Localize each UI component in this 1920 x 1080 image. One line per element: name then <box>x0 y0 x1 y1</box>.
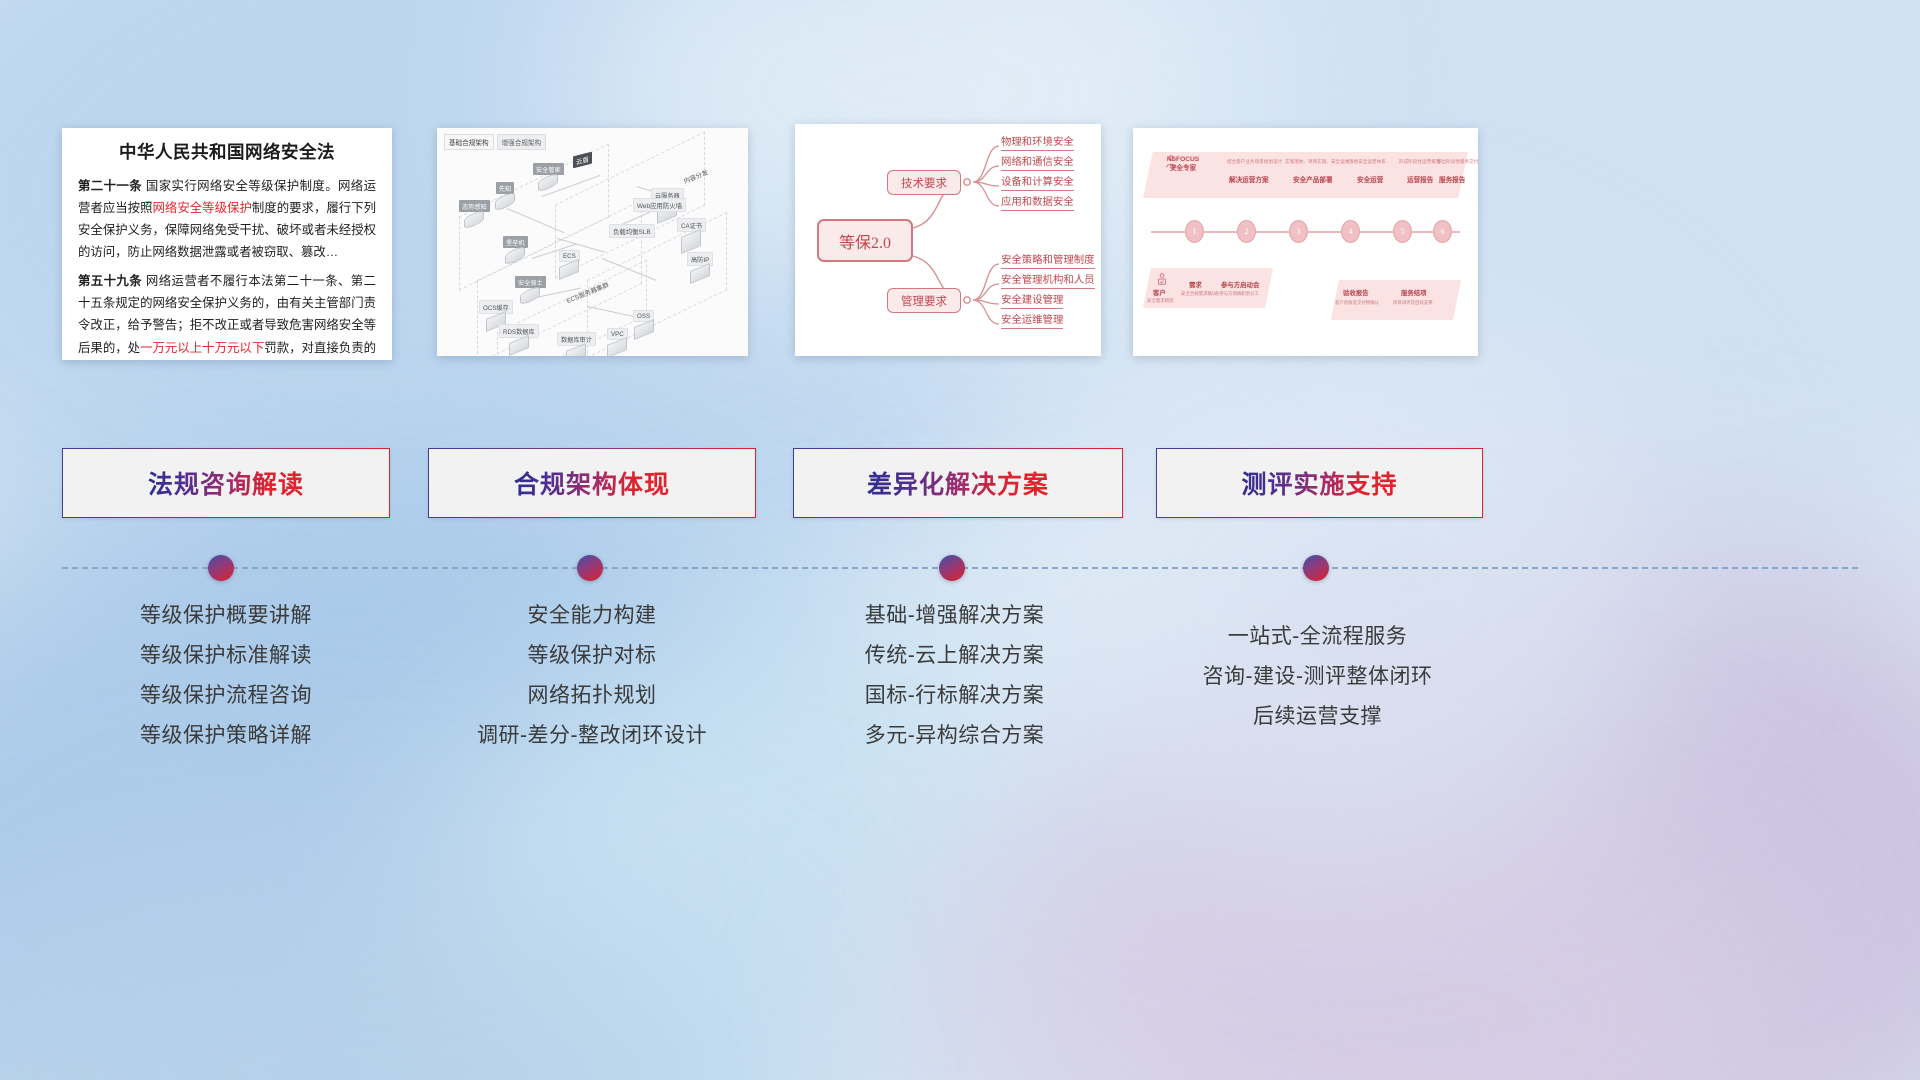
list-item: 网络拓扑规划 <box>427 685 757 706</box>
column-differentiated-solution: 基础-增强解决方案 传统-云上解决方案 国标-行标解决方案 多元-异构综合方案 <box>787 605 1122 765</box>
article-21-highlight: 网络安全等级保护 <box>153 201 252 215</box>
banner-compliance-architecture[interactable]: 合规架构体现 <box>428 448 756 518</box>
mindmap-leaf-org-personnel: 安全管理机构和人员 <box>1001 274 1095 289</box>
list-item: 等级保护概要讲解 <box>61 605 391 626</box>
list-item: 等级保护对标 <box>427 645 757 666</box>
arch-node-situational-awareness: 态势感知 <box>459 200 490 226</box>
timeline-step-2: 2 <box>1237 220 1256 243</box>
card-assessment-timeline[interactable]: NSFOCUS 安全专家 结合客户业务场景规划设计 解决运营方案 实施落地、项目… <box>1133 128 1478 356</box>
mindmap-leaf-ops-mgmt: 安全运维管理 <box>1001 314 1063 329</box>
card-mindmap-dengbao[interactable]: 等保2.0 技术要求 管理要求 物理和环境安全 网络和通信安全 设备和计算安全 … <box>795 124 1101 356</box>
mindmap-leaf-construction-mgmt: 安全建设管理 <box>1001 294 1063 309</box>
article-21-label: 第二十一条 <box>78 179 142 193</box>
tab-enhanced-architecture[interactable]: 增强合规架构 <box>497 134 547 150</box>
banner-assessment-support[interactable]: 测评实施支持 <box>1156 448 1483 518</box>
list-item: 咨询-建设-测评整体闭环 <box>1150 666 1485 687</box>
band-title-2: 安全产品部署 <box>1293 174 1333 184</box>
mindmap-diagram: 等保2.0 技术要求 管理要求 物理和环境安全 网络和通信安全 设备和计算安全 … <box>795 124 1101 356</box>
architecture-tabs[interactable]: 基础合规架构 增强合规架构 <box>444 134 546 150</box>
mindmap-leaf-network-comm: 网络和通信安全 <box>1001 156 1074 171</box>
tab-basic-architecture[interactable]: 基础合规架构 <box>444 134 494 150</box>
band-title-5: 服务报告 <box>1439 174 1465 184</box>
arch-node-xianzhi: 先知 <box>495 182 515 208</box>
arch-node-security-knight: 安全骑士 <box>515 276 546 302</box>
list-item: 等级保护标准解读 <box>61 645 391 666</box>
list-item: 调研-差分-整改闭环设计 <box>427 725 757 746</box>
timeline-brand: NSFOCUS 安全专家 <box>1155 156 1211 174</box>
timeline-step-4: 4 <box>1341 220 1360 243</box>
law-document: 中华人民共和国网络安全法 第二十一条 国家实行网络安全等级保护制度。网络运营者应… <box>62 128 392 360</box>
list-item: 国标-行标解决方案 <box>787 685 1122 706</box>
footer-title-kickoff: 参与方启动会 <box>1221 280 1259 289</box>
rail-dot-1 <box>208 555 234 581</box>
footer-sub-closure: 项目闭环及后续支撑 <box>1393 300 1433 306</box>
banner-label-2: 合规架构体现 <box>514 465 670 501</box>
law-article-59: 第五十九条 网络运营者不履行本法第二十一条、第二十五条规定的网络安全保护义务的，… <box>78 270 376 360</box>
timeline-diagram: NSFOCUS 安全专家 结合客户业务场景规划设计 解决运营方案 实施落地、项目… <box>1133 128 1478 356</box>
arch-node-ca-certificate: CA证书 <box>677 218 706 250</box>
rail-dot-4 <box>1303 555 1329 581</box>
band-sub-4: 形成阶段性运营报告 <box>1399 159 1440 165</box>
footer-title-acceptance: 验收报告 <box>1343 288 1369 297</box>
mindmap-branch-technical: 技术要求 <box>887 170 961 195</box>
list-item: 多元-异构综合方案 <box>787 725 1122 746</box>
arch-node-database-audit: 数据库审计 <box>557 332 596 356</box>
band-title-4: 运营报告 <box>1407 174 1433 184</box>
column-regulation-consulting: 等级保护概要讲解 等级保护标准解读 等级保护流程咨询 等级保护策略详解 <box>61 605 391 765</box>
band-title-1: 解决运营方案 <box>1229 174 1269 184</box>
timeline-step-1: 1 <box>1185 220 1204 243</box>
list-item: 等级保护策略详解 <box>61 725 391 746</box>
list-item: 安全能力构建 <box>427 605 757 626</box>
footer-title-customer: 客户 <box>1153 288 1166 297</box>
arch-node-anti-ddos-ip: 高防IP <box>687 252 713 280</box>
footer-title-requirement: 需求 <box>1189 280 1202 289</box>
list-item: 一站式-全流程服务 <box>1150 626 1485 647</box>
list-item: 基础-增强解决方案 <box>787 605 1122 626</box>
mindmap-leaf-device-compute: 设备和计算安全 <box>1001 176 1074 191</box>
banner-differentiated-solution[interactable]: 差异化解决方案 <box>793 448 1123 518</box>
footer-sub-customer: 安全需求梳理 <box>1147 298 1173 304</box>
rail-dot-2 <box>577 555 603 581</box>
arch-node-security-butler: 安全管家 <box>533 163 564 189</box>
article-59-highlight-1: 一万元以上十万元以下 <box>140 341 264 355</box>
band-sub-5: 输出阶段性服务交付结果报告 <box>1437 159 1478 165</box>
list-item: 等级保护流程咨询 <box>61 685 391 706</box>
column-assessment-support: 一站式-全流程服务 咨询-建设-测评整体闭环 后续运营支撑 <box>1150 626 1485 746</box>
banner-label-3: 差异化解决方案 <box>867 465 1049 501</box>
list-item: 后续运营支撑 <box>1150 706 1485 727</box>
band-sub-1: 结合客户业务场景规划设计 <box>1227 159 1282 165</box>
mindmap-leaf-app-data: 应用和数据安全 <box>1001 196 1074 211</box>
law-article-21: 第二十一条 国家实行网络安全等级保护制度。网络运营者应当按照网络安全等级保护制度… <box>78 175 376 263</box>
banner-label-1: 法规咨询解读 <box>148 465 304 501</box>
timeline-step-5: 5 <box>1393 220 1412 243</box>
architecture-diagram: 基础合规架构 增强合规架构 云盾 态势感知 <box>437 128 748 356</box>
timeline-step-3: 3 <box>1289 220 1308 243</box>
footer-sub-acceptance: 客户验收及交付物确认 <box>1335 300 1379 306</box>
person-check-icon <box>1155 272 1169 286</box>
footer-title-closure: 服务结项 <box>1401 288 1427 297</box>
article-59-label: 第五十九条 <box>78 274 142 288</box>
footer-sub-requirement: 安全合规需求确认 <box>1181 291 1216 297</box>
arch-node-bastion-host: 堡垒机 <box>503 236 528 262</box>
arch-node-web-app-firewall: Web应用防火墙 <box>633 198 686 212</box>
rail-dot-3 <box>939 555 965 581</box>
band-title-3: 安全运营 <box>1357 174 1383 184</box>
footer-sub-kickoff: 各参与方明确职责分工 <box>1215 291 1259 297</box>
mindmap-leaf-physical-env: 物理和环境安全 <box>1001 136 1074 151</box>
banner-label-4: 测评实施支持 <box>1241 465 1397 501</box>
arch-node-oss: OSS <box>633 310 654 336</box>
banner-regulation-consulting[interactable]: 法规咨询解读 <box>62 448 390 518</box>
mindmap-branch-management: 管理要求 <box>887 288 961 313</box>
mindmap-root: 等保2.0 <box>817 219 913 262</box>
arch-node-ecs: ECS <box>559 250 580 276</box>
band-sub-3: 落地安全运营体系 <box>1349 159 1386 165</box>
mindmap-leaf-policy-system: 安全策略和管理制度 <box>1001 254 1095 269</box>
card-law-text[interactable]: 中华人民共和国网络安全法 第二十一条 国家实行网络安全等级保护制度。网络运营者应… <box>62 128 392 360</box>
column-compliance-architecture: 安全能力构建 等级保护对标 网络拓扑规划 调研-差分-整改闭环设计 <box>427 605 757 765</box>
card-compliance-architecture[interactable]: 基础合规架构 增强合规架构 云盾 态势感知 <box>437 128 748 356</box>
band-sub-2: 实施落地、项目实施、安全运维 <box>1285 159 1349 165</box>
arch-node-vpc: VPC <box>607 328 628 354</box>
list-item: 传统-云上解决方案 <box>787 645 1122 666</box>
timeline-step-6: 6 <box>1433 220 1452 243</box>
arch-node-load-balancer: 负载均衡SLB <box>609 224 655 238</box>
law-title: 中华人民共和国网络安全法 <box>78 139 376 164</box>
arch-node-rds-database: RDS数据库 <box>499 324 539 352</box>
